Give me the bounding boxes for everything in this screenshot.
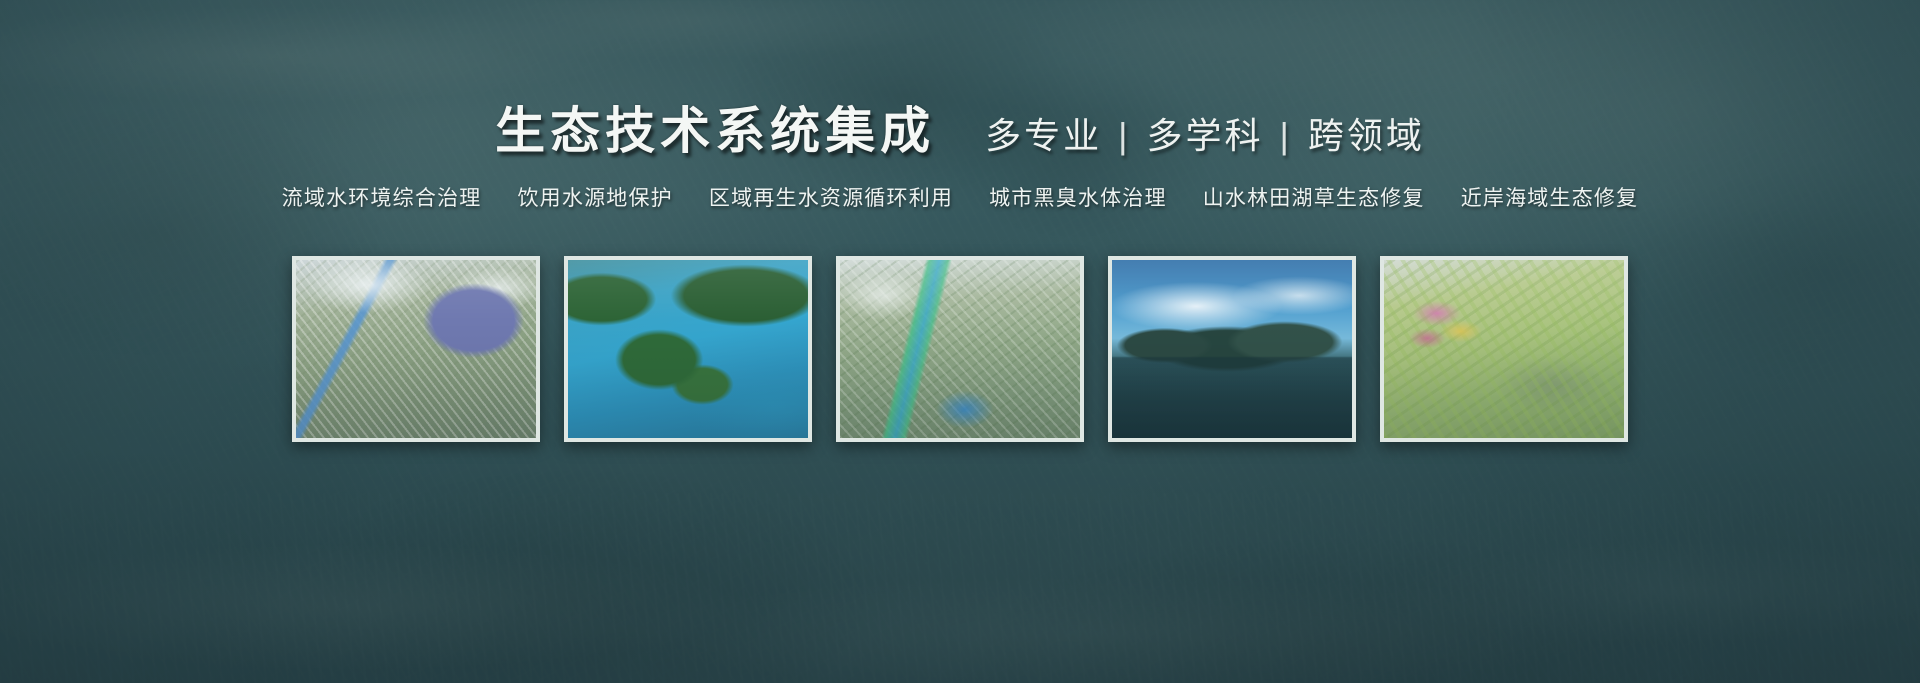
- tagline-part-1: 多专业: [985, 118, 1102, 154]
- service-link-reclaimed-water-reuse[interactable]: 区域再生水资源循环利用: [709, 182, 953, 212]
- thumbnail-gloss-5: [1384, 260, 1624, 438]
- service-link-ecological-restoration[interactable]: 山水林田湖草生态修复: [1203, 182, 1425, 212]
- service-link-coastal-restoration[interactable]: 近岸海域生态修复: [1461, 182, 1639, 212]
- thumbnail-river-corridor-greenbelt[interactable]: [836, 256, 1084, 442]
- banner-headline: 生态技术系统集成: [495, 106, 935, 156]
- banner-tagline: 多专业 | 多学科 | 跨领域: [985, 118, 1425, 154]
- thumbnail-gloss-3: [840, 260, 1080, 438]
- service-link-drinking-water-source[interactable]: 饮用水源地保护: [517, 182, 672, 212]
- tagline-part-2: 多学科: [1146, 118, 1263, 154]
- service-links-row: 流域水环境综合治理 饮用水源地保护 区域再生水资源循环利用 城市黑臭水体治理 山…: [282, 182, 1639, 212]
- thumbnail-coastal-plain-masterplan[interactable]: [292, 256, 540, 442]
- thumbnail-farmland-flower-fields[interactable]: [1380, 256, 1628, 442]
- banner-content: 生态技术系统集成 多专业 | 多学科 | 跨领域 流域水环境综合治理 饮用水源地…: [0, 0, 1920, 683]
- service-link-black-odorous-water[interactable]: 城市黑臭水体治理: [989, 182, 1167, 212]
- thumbnail-mountain-lake-reflection[interactable]: [1108, 256, 1356, 442]
- thumbnail-gloss-1: [296, 260, 536, 438]
- thumbnail-gallery: [292, 256, 1628, 442]
- hero-banner: 生态技术系统集成 多专业 | 多学科 | 跨领域 流域水环境综合治理 饮用水源地…: [0, 0, 1920, 683]
- thumbnail-gloss-2: [568, 260, 808, 438]
- tagline-part-3: 跨领域: [1308, 118, 1425, 154]
- tagline-separator-1: |: [1116, 118, 1132, 154]
- thumbnail-island-lake-scenery[interactable]: [564, 256, 812, 442]
- service-link-watershed-treatment[interactable]: 流域水环境综合治理: [282, 182, 482, 212]
- headline-row: 生态技术系统集成 多专业 | 多学科 | 跨领域: [495, 106, 1425, 156]
- thumbnail-gloss-4: [1112, 260, 1352, 438]
- tagline-separator-2: |: [1278, 118, 1294, 154]
